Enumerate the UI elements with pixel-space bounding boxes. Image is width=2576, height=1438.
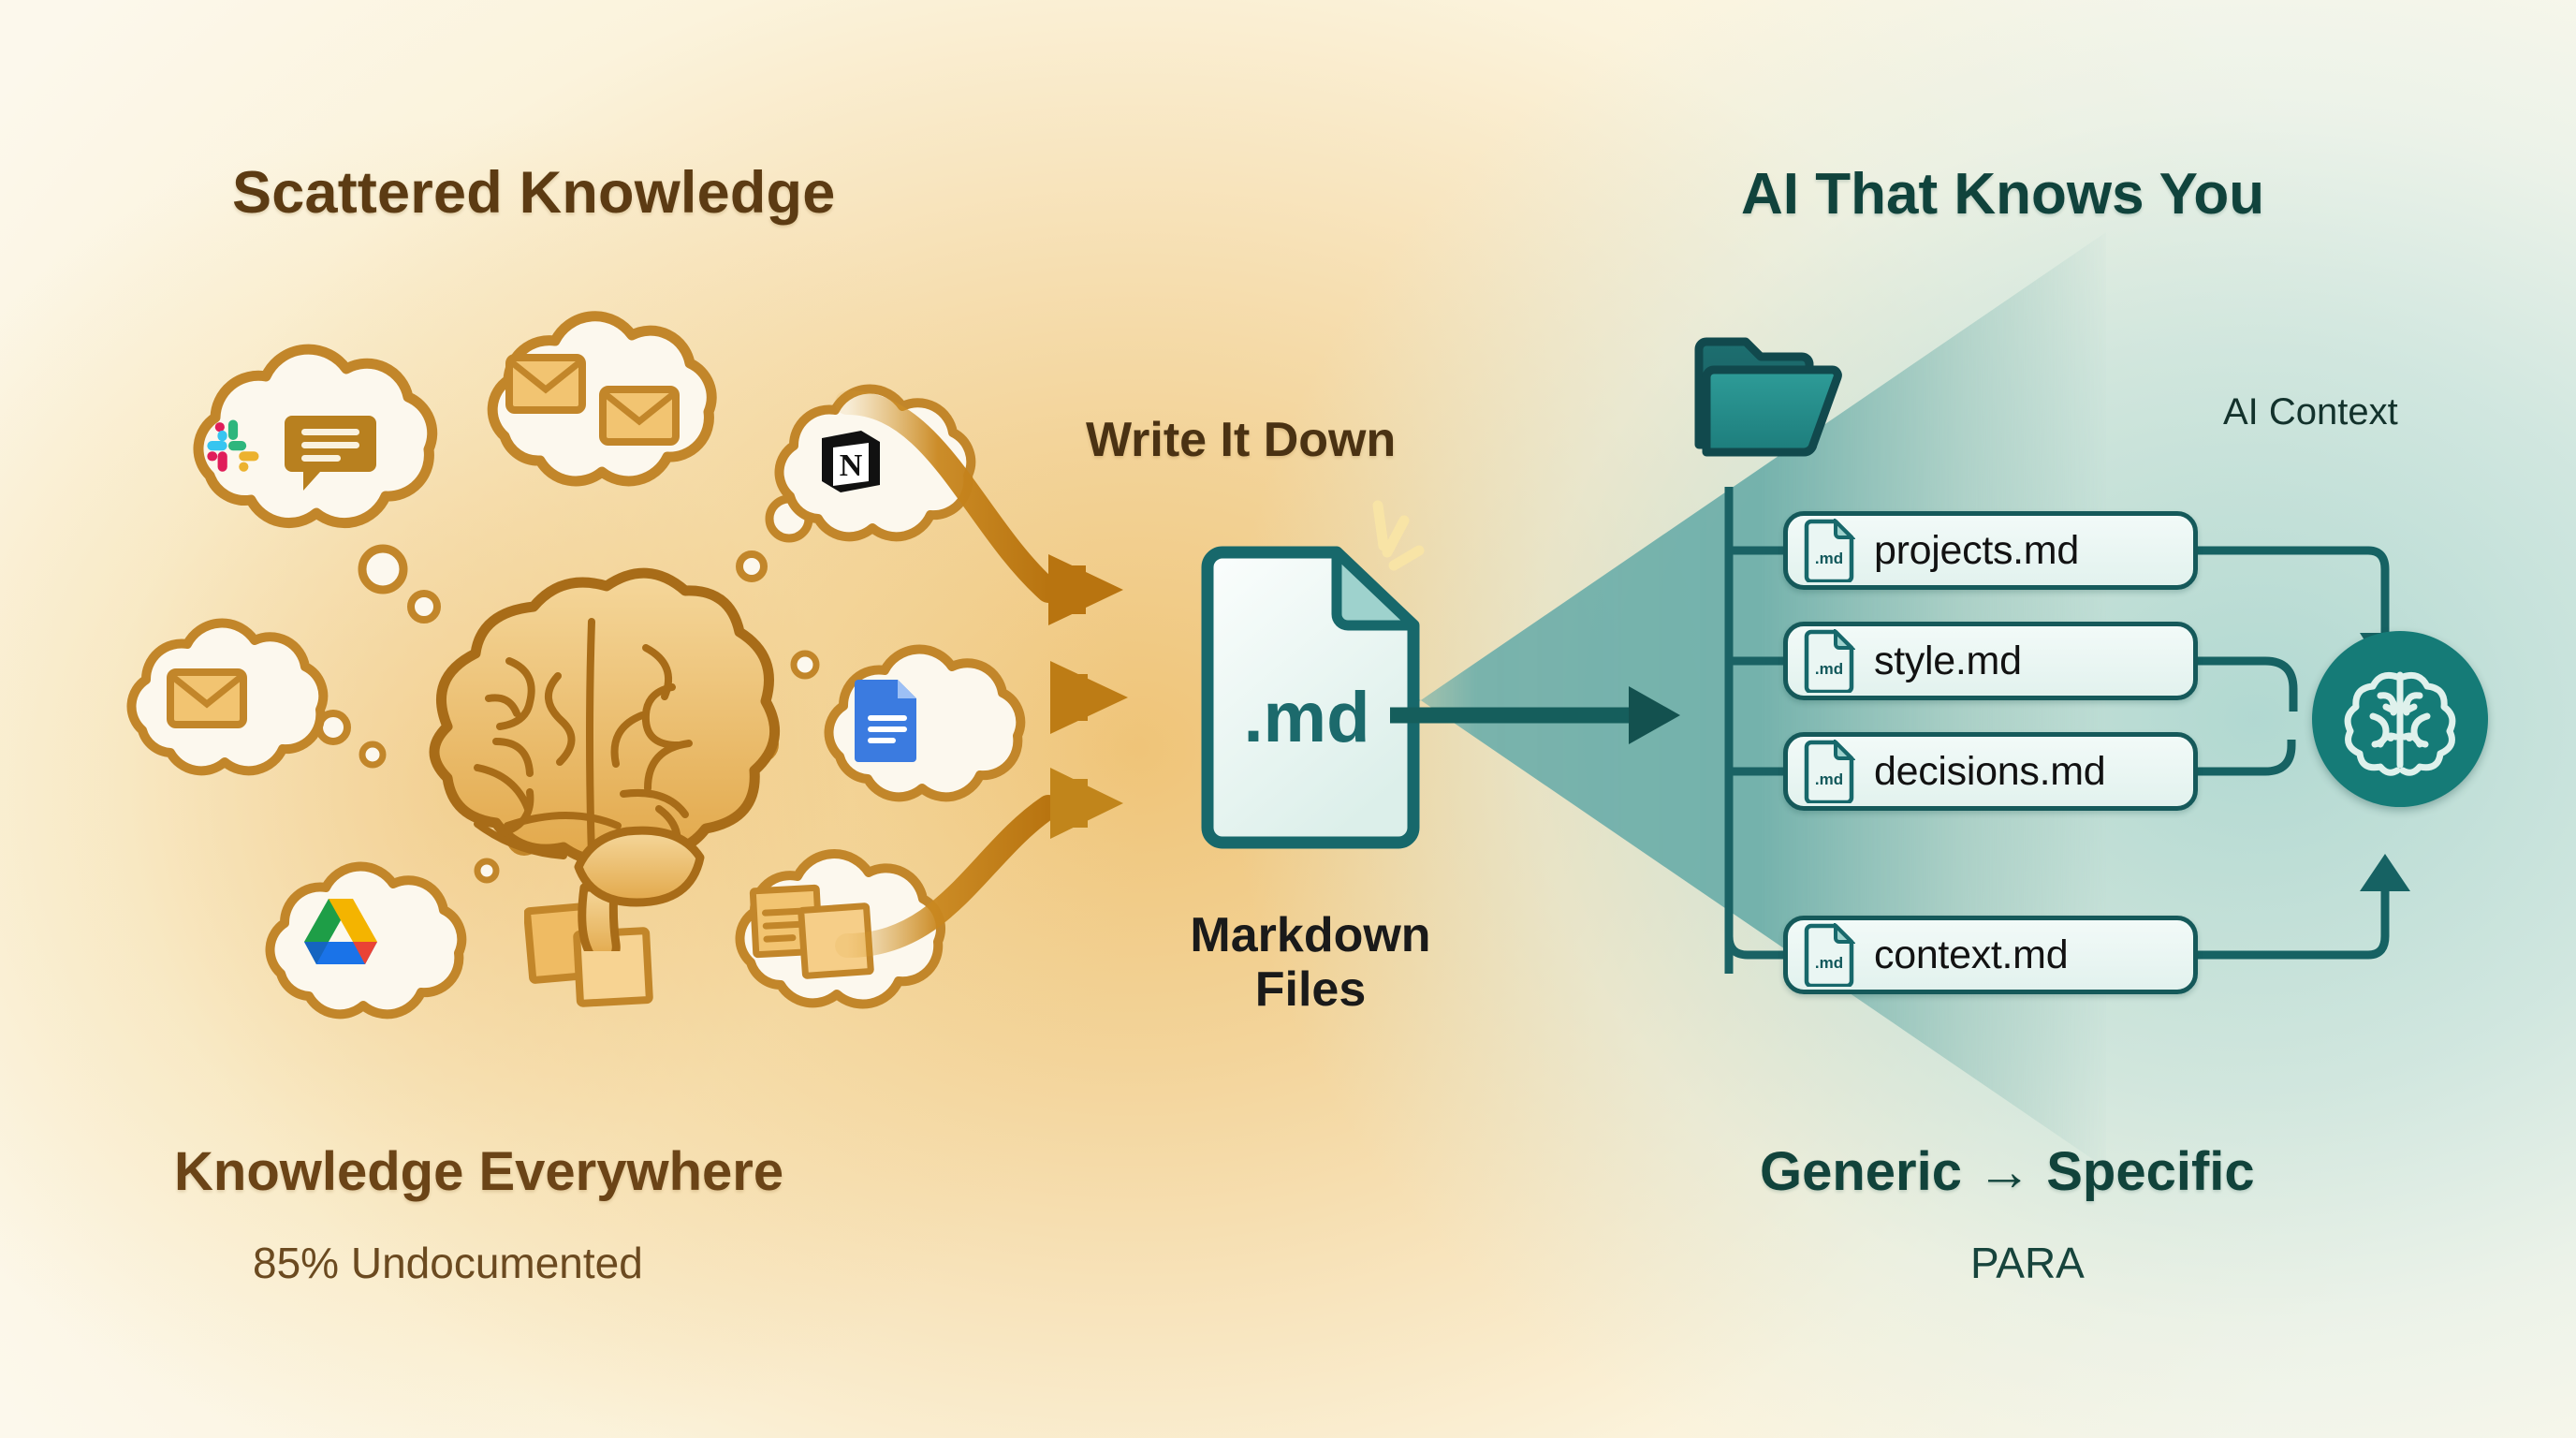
- file-card[interactable]: .md projects.md: [1783, 511, 2198, 590]
- file-card[interactable]: .md style.md: [1783, 622, 2198, 700]
- svg-text:.md: .md: [1815, 660, 1843, 678]
- svg-text:.md: .md: [1815, 954, 1843, 972]
- cloud-slack: [142, 335, 451, 560]
- envelope-icon: [167, 668, 247, 728]
- file-name: projects.md: [1874, 528, 2079, 574]
- markdown-files-caption: Markdown Files: [1137, 908, 1484, 1017]
- right-footer-title: Generic → Specific: [1760, 1140, 2255, 1203]
- md-file-icon: .md: [1803, 740, 1855, 803]
- file-name: style.md: [1874, 638, 2022, 684]
- cloud-email: [445, 300, 725, 515]
- svg-text:.md: .md: [1815, 550, 1843, 567]
- infographic-canvas: Scattered Knowledge Write It Down AI Tha…: [0, 0, 2576, 1438]
- svg-text:.md: .md: [1815, 770, 1843, 788]
- left-footer-title: Knowledge Everywhere: [174, 1140, 783, 1203]
- svg-text:N: N: [840, 448, 863, 483]
- ai-context-label: AI Context: [2223, 391, 2398, 433]
- chat-bubble-icon: [285, 410, 376, 491]
- middle-panel-heading: Write It Down: [1086, 412, 1396, 468]
- google-docs-icon: [853, 676, 922, 762]
- brain-circle-icon[interactable]: [2312, 631, 2488, 807]
- right-panel-heading: AI That Knows You: [1741, 161, 2264, 227]
- md-file-icon: .md: [1803, 519, 1855, 582]
- right-footer-subtitle: PARA: [1970, 1238, 2085, 1288]
- md-file-icon: .md: [1803, 629, 1855, 693]
- notion-logo-icon: N: [812, 423, 887, 498]
- caption-line-2: Files: [1137, 962, 1484, 1017]
- md-file-icon: .md: [1803, 923, 1855, 987]
- envelope-icon: [505, 354, 586, 414]
- file-card[interactable]: .md context.md: [1783, 916, 2198, 994]
- cloud-notion: N: [739, 374, 973, 566]
- brain-illustration: [391, 558, 784, 956]
- caption-line-1: Markdown: [1137, 908, 1484, 962]
- envelope-icon: [599, 386, 680, 446]
- file-card[interactable]: .md decisions.md: [1783, 732, 2198, 811]
- svg-text:.md: .md: [1243, 678, 1369, 757]
- file-name: decisions.md: [1874, 749, 2105, 795]
- open-folder-icon[interactable]: [1690, 332, 1877, 496]
- left-footer-subtitle: 85% Undocumented: [253, 1238, 643, 1288]
- file-name: context.md: [1874, 932, 2068, 978]
- google-drive-icon: [298, 895, 384, 972]
- cloud-docs: [791, 637, 1025, 824]
- markdown-file-card[interactable]: .md: [1187, 543, 1430, 857]
- slack-logo-icon: [201, 414, 265, 477]
- cloud-mail: [94, 610, 328, 798]
- left-panel-heading: Scattered Knowledge: [232, 159, 835, 227]
